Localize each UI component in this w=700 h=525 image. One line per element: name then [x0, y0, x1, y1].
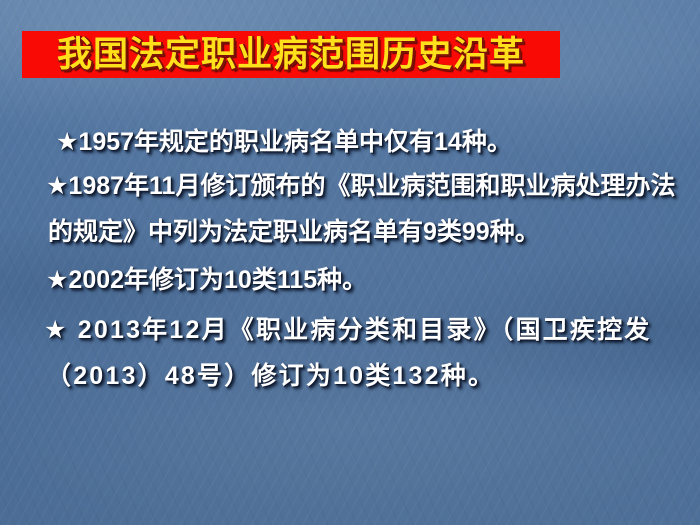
body-line-2: ★1987年11月修订颁布的《职业病范围和职业病处理办法 [0, 164, 700, 208]
slide-body: ★1957年规定的职业病名单中仅有14种。 ★1987年11月修订颁布的《职业病… [0, 120, 700, 398]
slide-title: 我国法定职业病范围历史沿革 [57, 37, 525, 72]
body-line-3: 的规定》中列为法定职业病名单有9类99种。 [0, 210, 700, 254]
presentation-slide: 我国法定职业病范围历史沿革 ★1957年规定的职业病名单中仅有14种。 ★198… [0, 0, 700, 525]
body-line-5: ★ 2013年12月《职业病分类和目录》（国卫疾控发 [0, 308, 700, 352]
body-line-1: ★1957年规定的职业病名单中仅有14种。 [0, 120, 700, 164]
body-line-6: （2013）48号）修订为10类132种。 [0, 354, 700, 398]
title-banner: 我国法定职业病范围历史沿革 [22, 31, 560, 78]
body-line-4: ★2002年修订为10类115种。 [0, 258, 700, 302]
